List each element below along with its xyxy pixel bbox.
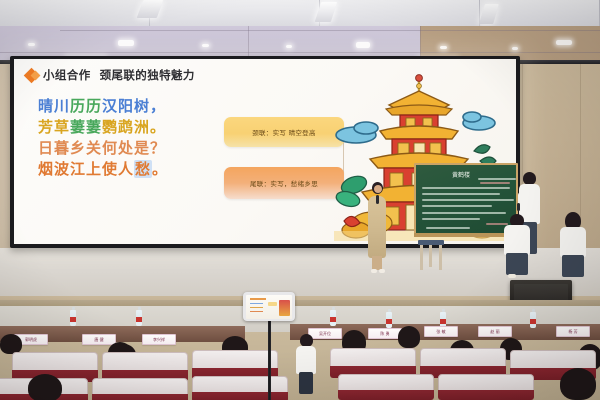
attendee-standing <box>296 334 316 394</box>
name-placard: 李兴祥 <box>142 334 176 345</box>
side-stool <box>418 240 444 270</box>
audience-head-front <box>560 368 596 400</box>
water-bottle <box>136 310 142 326</box>
phone-recorder[interactable] <box>243 292 295 321</box>
poem-line: 日暮乡关何处是？ <box>38 139 168 157</box>
auditorium-seat[interactable] <box>338 374 434 400</box>
slide-title-prefix: 小组合作 <box>43 67 91 83</box>
blackboard-title: 黄鹤楼 <box>452 170 470 179</box>
blackboard: 黄鹤楼 <box>414 163 518 235</box>
microphone-icon <box>376 195 379 204</box>
teacher-shoe <box>371 269 377 273</box>
poem-seg: 。 <box>152 160 168 178</box>
student-seated-left <box>504 214 532 280</box>
poem-seg: 萋萋 <box>70 118 102 136</box>
poem-seg: 晴川 <box>38 97 70 115</box>
auditorium-seat[interactable] <box>438 374 534 400</box>
poem-seg: 芳草 <box>38 118 70 136</box>
poem-seg: 历历 <box>70 97 102 115</box>
poem-seg: 日暮乡关何处是？ <box>38 139 166 157</box>
poem-seg: 汉阳树， <box>102 97 166 115</box>
name-placard: 赵 丽 <box>478 326 512 337</box>
callout-weilian: 尾联：实写，愁绪乡思 <box>224 167 344 199</box>
microphone-icon <box>517 203 520 211</box>
water-bottle <box>530 312 536 328</box>
poem-seg: 鹦鹉洲。 <box>102 118 166 136</box>
student-pants <box>506 253 528 275</box>
ceiling-upper <box>0 0 600 28</box>
audience-head <box>398 326 420 348</box>
audience-head-front <box>28 374 62 400</box>
poem-line: 烟波江上使人愁。 <box>38 160 168 178</box>
water-bottle <box>70 310 76 326</box>
teacher-face <box>374 185 382 193</box>
poem-block: 晴川历历汉阳树， 芳草萋萋鹦鹉洲。 日暮乡关何处是？ 烟波江上使人愁。 <box>38 97 168 178</box>
auditorium-seat[interactable] <box>92 378 188 400</box>
teacher-shoe <box>379 269 385 273</box>
poem-line: 晴川历历汉阳树， <box>38 97 168 115</box>
name-placard: 杨 芳 <box>556 326 590 337</box>
teacher-presenter <box>368 182 390 276</box>
water-bottle <box>386 312 392 328</box>
phone-screen <box>246 295 292 319</box>
poem-seg: 烟波江上使人 <box>38 160 134 178</box>
poem-highlight-char: 愁 <box>134 160 152 178</box>
blackboard-tray <box>414 233 518 237</box>
audience-head <box>0 334 22 354</box>
classroom-scene: 小组合作 颈尾联的独特魅力 晴川历历汉阳树， 芳草萋萋鹦鹉洲。 日暮乡关何处是？… <box>0 0 600 400</box>
student-uniform <box>560 227 586 257</box>
student-seated-right <box>560 212 588 280</box>
callout-jinglian: 颈联：实写 晴空登高 <box>224 117 344 147</box>
slide-title-row: 小组合作 颈尾联的独特魅力 <box>26 67 195 83</box>
poem-line: 芳草萋萋鹦鹉洲。 <box>38 118 168 136</box>
teacher-legs <box>372 256 382 270</box>
name-placard: 张 敏 <box>424 326 458 337</box>
water-bottle <box>330 310 336 326</box>
auditorium-seat[interactable] <box>192 376 288 400</box>
student-pants <box>562 255 584 277</box>
name-placard: 陈 勇 <box>368 328 402 339</box>
teacher-dress <box>368 196 386 258</box>
name-placard: 唐 健 <box>82 334 116 345</box>
student-uniform <box>504 225 530 255</box>
slide-title-main: 颈尾联的独特魅力 <box>100 67 195 83</box>
